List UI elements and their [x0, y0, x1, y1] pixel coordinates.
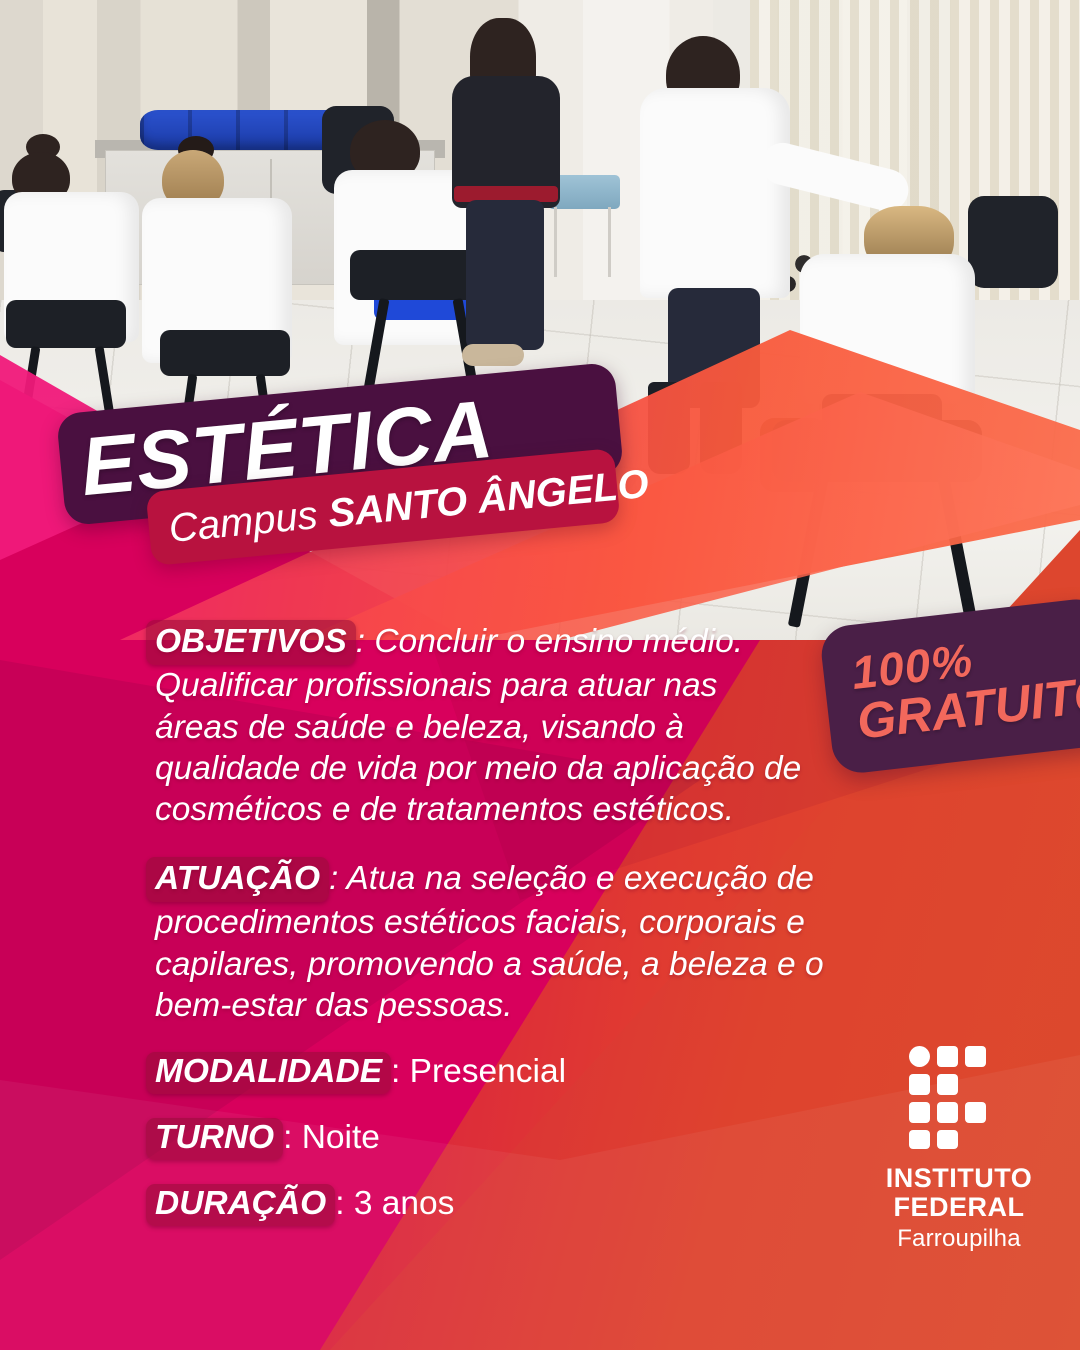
section-atuacao-tag: ATUAÇÃO	[146, 857, 329, 902]
course-info-block: OBJETIVOS: Concluir o ensino médio. Qual…	[155, 620, 835, 1250]
section-objetivos-line-2: áreas de saúde e beleza, visando à	[155, 707, 835, 748]
instituto-federal-icon	[909, 1046, 1009, 1150]
section-atuacao-line-2: capilares, promovendo a saúde, a beleza …	[155, 944, 835, 985]
section-objetivos-line-1: Qualificar profissionais para atuar nas	[155, 665, 835, 706]
section-atuacao-line-1: procedimentos estéticos faciais, corpora…	[155, 902, 835, 943]
free-badge: 100% GRATUITO	[819, 596, 1080, 775]
detail-modalidade-value: : Presencial	[391, 1053, 566, 1090]
section-objetivos: OBJETIVOS: Concluir o ensino médio. Qual…	[155, 620, 835, 831]
photo-headrest-r	[968, 196, 1058, 288]
section-objetivos-line-3: qualidade de vida por meio da aplicação …	[155, 748, 835, 789]
section-objetivos-line-4: cosméticos e de tratamentos estéticos.	[155, 789, 835, 830]
detail-duracao-tag: DURAÇÃO	[146, 1184, 335, 1226]
section-atuacao-text-0: : Atua na seleção e execução de	[329, 860, 814, 897]
photo-legs-teacher-dark	[466, 200, 544, 350]
institute-logo: INSTITUTO FEDERAL Farroupilha	[866, 1046, 1052, 1253]
section-objetivos-tag: OBJETIVOS	[146, 620, 356, 665]
detail-duracao-value: : 3 anos	[335, 1185, 454, 1222]
detail-modalidade: MODALIDADE: Presencial	[155, 1052, 835, 1094]
detail-duracao: DURAÇÃO: 3 anos	[155, 1184, 835, 1226]
section-atuacao-line-3: bem-estar das pessoas.	[155, 985, 835, 1026]
detail-turno-tag: TURNO	[146, 1118, 283, 1160]
photo-shoe-teacher-dark	[462, 344, 524, 366]
logo-name-line-1: INSTITUTO	[866, 1164, 1052, 1193]
detail-turno-value: : Noite	[283, 1119, 380, 1156]
section-atuacao: ATUAÇÃO: Atua na seleção e execução de p…	[155, 857, 835, 1026]
campus-name: SANTO ÂNGELO	[326, 461, 650, 536]
poster-root: ESTÉTICA Campus SANTO ÂNGELO 100% GRATUI…	[0, 0, 1080, 1350]
detail-modalidade-tag: MODALIDADE	[146, 1052, 391, 1094]
section-objetivos-line-0: OBJETIVOS: Concluir o ensino médio.	[155, 620, 835, 665]
logo-name-line-2: FEDERAL	[866, 1193, 1052, 1222]
logo-campus-name: Farroupilha	[866, 1225, 1052, 1253]
campus-label: Campus	[167, 493, 320, 552]
photo-labcoat-teacher-white	[640, 88, 790, 298]
detail-turno: TURNO: Noite	[155, 1118, 835, 1160]
section-atuacao-line-0: ATUAÇÃO: Atua na seleção e execução de	[155, 857, 835, 902]
section-objetivos-text-0: : Concluir o ensino médio.	[356, 623, 743, 660]
